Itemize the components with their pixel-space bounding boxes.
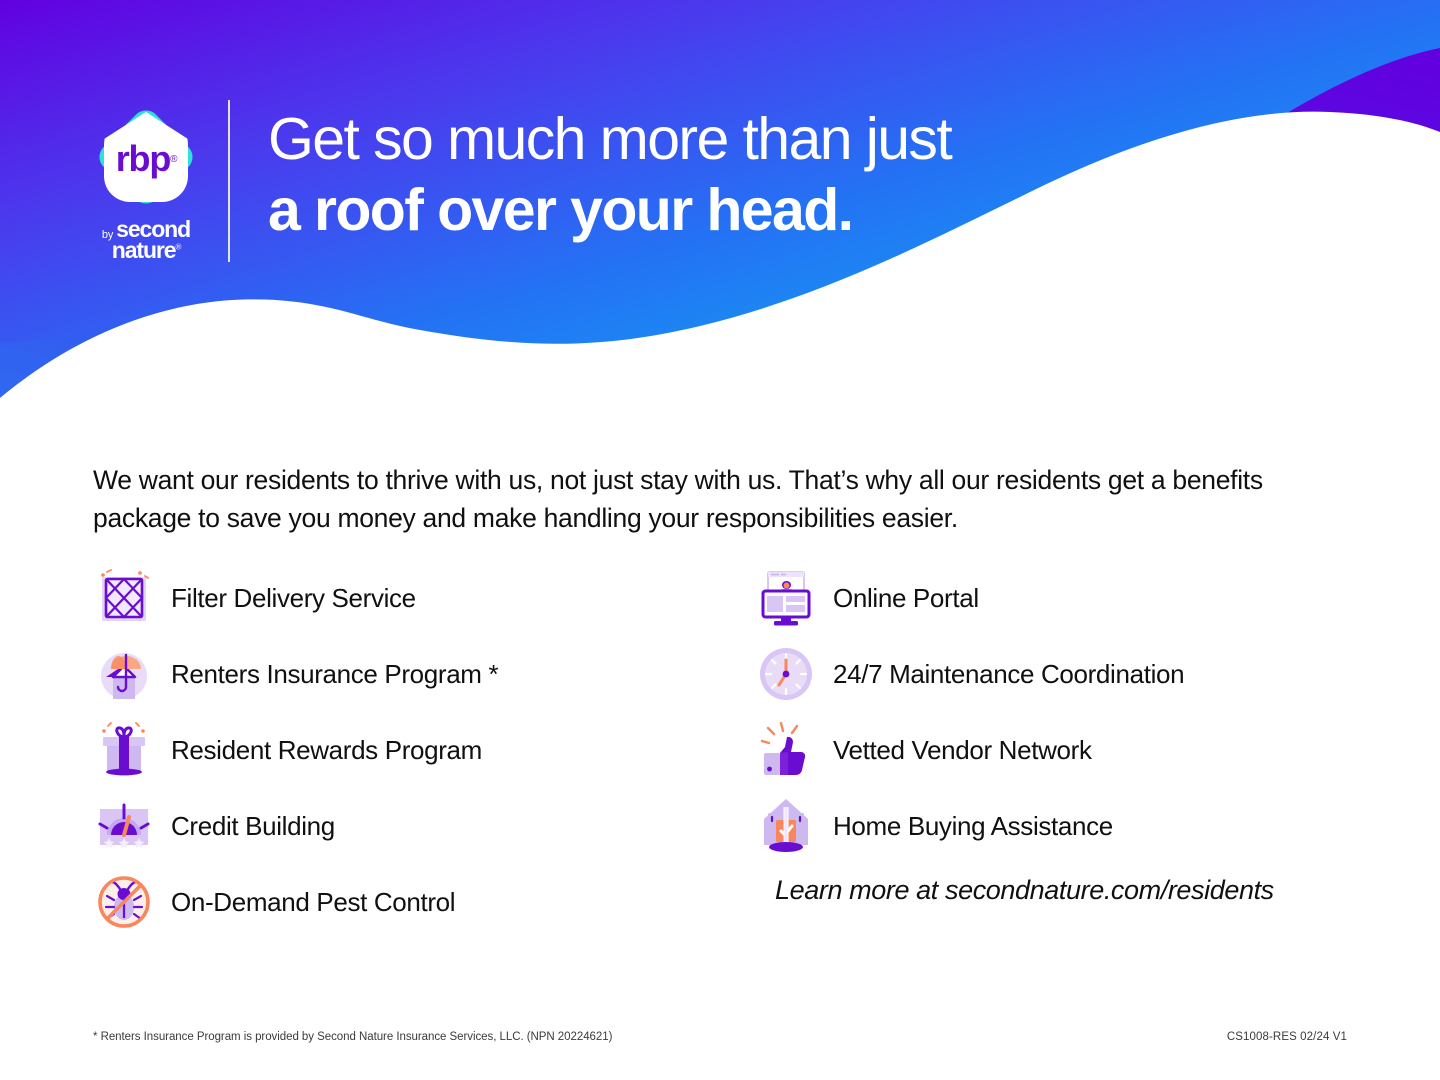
benefit-item-resident-rewards-program: Resident Rewards Program	[93, 712, 713, 788]
rbp-logo-mark: rbp®	[90, 98, 202, 216]
no-pest-icon	[93, 871, 155, 933]
benefit-item-maintenance-coordination: 24/7 Maintenance Coordination	[755, 636, 1375, 712]
benefit-item-online-portal: Online Portal	[755, 560, 1375, 636]
logo-divider	[228, 100, 230, 262]
learn-more-text: Learn more at secondnature.com/residents	[775, 875, 1274, 906]
gift-box-icon	[93, 719, 155, 781]
umbrella-house-icon	[93, 643, 155, 705]
benefit-label: Resident Rewards Program	[171, 735, 482, 766]
logo-rbp-text: rbp®	[90, 98, 202, 216]
clock-icon	[755, 643, 817, 705]
logo-rbp-label: rbp	[116, 138, 170, 180]
benefits-right-column: Online Portal 24/7 Maintenance Coordinat…	[755, 560, 1375, 864]
logo-nature-registered-mark: ®	[175, 242, 180, 251]
benefit-label: Online Portal	[833, 583, 979, 614]
footer-document-code: CS1008-RES 02/24 V1	[1227, 1031, 1347, 1043]
logo-nature-text: nature	[112, 237, 176, 263]
air-filter-icon	[93, 567, 155, 629]
hero-banner: rbp® by second nature® Get so much more …	[0, 0, 1440, 430]
house-for-sale-sign-icon	[755, 795, 817, 857]
benefits-left-column: Filter Delivery Service Renters Insuranc…	[93, 560, 713, 940]
headline-line-2: a roof over your head.	[268, 181, 1168, 240]
benefit-item-vetted-vendor-network: Vetted Vendor Network	[755, 712, 1375, 788]
benefit-label: Renters Insurance Program *	[171, 659, 498, 690]
benefit-label: Home Buying Assistance	[833, 811, 1113, 842]
logo-by-second-nature: by second nature®	[86, 218, 206, 262]
benefit-item-on-demand-pest-control: On-Demand Pest Control	[93, 864, 713, 940]
rbp-logo: rbp® by second nature®	[86, 98, 206, 263]
logo-registered-mark: ®	[170, 154, 176, 165]
intro-paragraph: We want our residents to thrive with us,…	[93, 462, 1318, 538]
thumbs-up-icon	[755, 719, 817, 781]
benefit-label: Credit Building	[171, 811, 335, 842]
desktop-monitor-icon	[755, 567, 817, 629]
benefit-item-home-buying-assistance: Home Buying Assistance	[755, 788, 1375, 864]
benefit-item-filter-delivery-service: Filter Delivery Service	[93, 560, 713, 636]
benefit-label: 24/7 Maintenance Coordination	[833, 659, 1184, 690]
benefit-item-credit-building: Credit Building	[93, 788, 713, 864]
hero-headline: Get so much more than just a roof over y…	[268, 110, 1168, 240]
benefit-item-renters-insurance-program: Renters Insurance Program *	[93, 636, 713, 712]
logo-nature-label: nature®	[86, 239, 206, 262]
benefit-label: On-Demand Pest Control	[171, 887, 455, 918]
benefit-label: Filter Delivery Service	[171, 583, 416, 614]
benefit-label: Vetted Vendor Network	[833, 735, 1092, 766]
headline-line-1: Get so much more than just	[268, 110, 1168, 169]
credit-gauge-stars-icon	[93, 795, 155, 857]
footer-disclaimer: * Renters Insurance Program is provided …	[93, 1031, 612, 1043]
